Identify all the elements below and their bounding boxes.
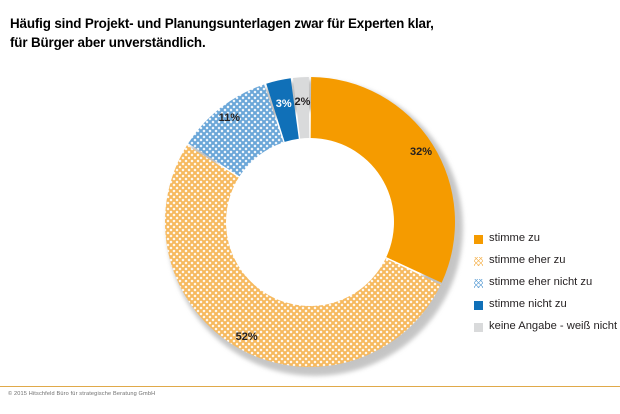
donut-value-label: 3%	[276, 98, 292, 110]
donut-value-label: 11%	[219, 112, 240, 124]
donut-segments	[165, 77, 455, 367]
donut-graphic: 32%52%11%3%2%	[162, 74, 458, 370]
legend-item-stimme-eher-nicht-zu[interactable]: stimme eher nicht zu	[474, 272, 620, 294]
page-title: Häufig sind Projekt- und Planungsunterla…	[10, 14, 570, 52]
legend-item-label: stimme nicht zu	[489, 299, 567, 310]
legend-swatch-icon	[474, 323, 483, 332]
legend-item-label: stimme eher zu	[489, 255, 565, 266]
legend-item-keine-angabe[interactable]: keine Angabe - weiß nicht	[474, 316, 620, 338]
legend-swatch-icon	[474, 257, 483, 266]
legend-item-stimme-nicht-zu[interactable]: stimme nicht zu	[474, 294, 620, 316]
footer-divider	[0, 386, 620, 387]
donut-value-label: 52%	[236, 331, 258, 343]
donut-segment[interactable]	[311, 77, 455, 283]
donut-value-label: 2%	[294, 96, 310, 108]
legend-item-label: stimme eher nicht zu	[489, 277, 592, 288]
legend-item-stimme-zu[interactable]: stimme zu	[474, 228, 620, 250]
legend-swatch-icon	[474, 301, 483, 310]
legend-item-stimme-eher-zu[interactable]: stimme eher zu	[474, 250, 620, 272]
legend-item-label: keine Angabe - weiß nicht	[489, 321, 617, 332]
legend-swatch-icon	[474, 235, 483, 244]
legend-item-label: stimme zu	[489, 233, 540, 244]
title-line-1: Häufig sind Projekt- und Planungsunterla…	[10, 14, 570, 33]
title-line-2: für Bürger aber unverständlich.	[10, 33, 570, 52]
donut-chart: 32%52%11%3%2%	[0, 62, 470, 380]
donut-svg	[162, 74, 458, 370]
donut-value-label: 32%	[410, 146, 432, 158]
copyright-notice: © 2015 Hitschfeld Büro für strategische …	[8, 391, 155, 397]
chart-legend: stimme zu stimme eher zu stimme eher nic…	[474, 228, 620, 338]
legend-swatch-icon	[474, 279, 483, 288]
